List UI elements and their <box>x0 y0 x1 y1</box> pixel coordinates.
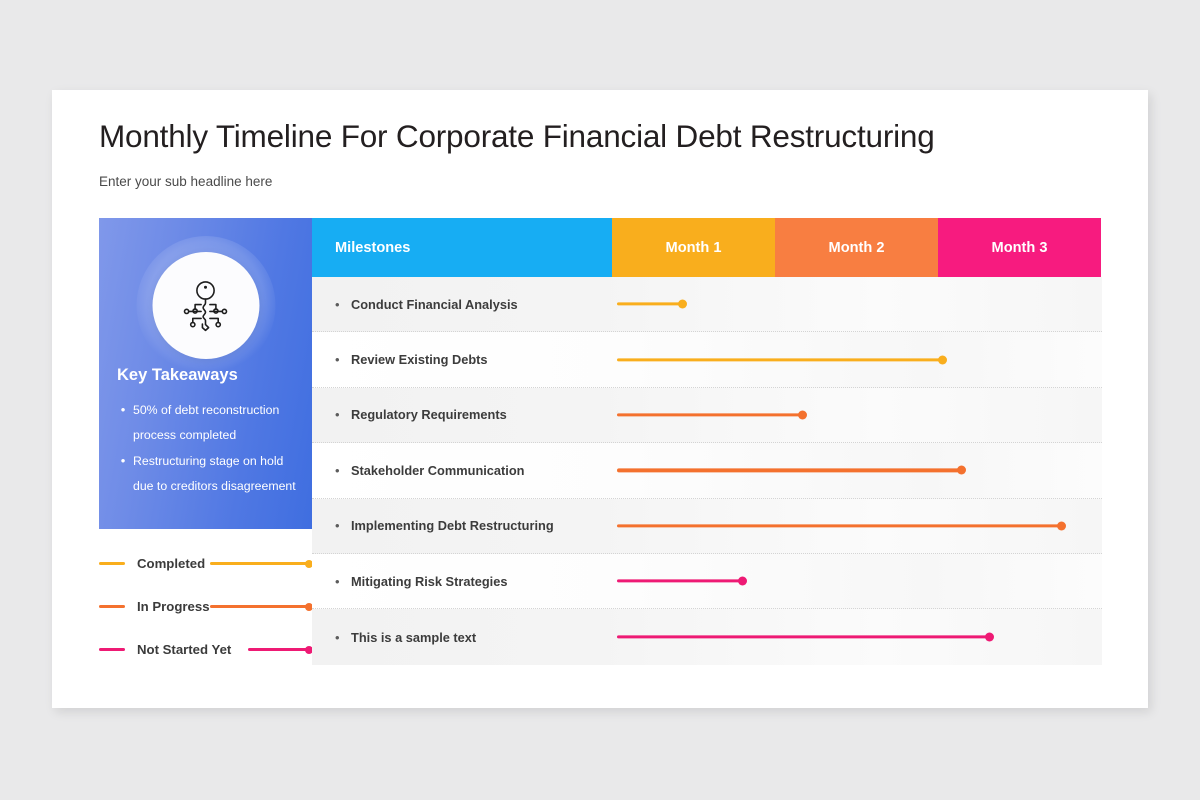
key-icon-halo <box>136 236 275 375</box>
gantt-end-dot-icon <box>1057 521 1066 530</box>
milestone-label: This is a sample text <box>351 630 476 645</box>
column-header-month1: Month 1 <box>612 218 775 277</box>
key-takeaways-panel: Key Takeaways • 50% of debt reconstructi… <box>99 218 312 529</box>
table-row[interactable]: • Mitigating Risk Strategies <box>312 554 1102 609</box>
table-row[interactable]: • Implementing Debt Restructuring <box>312 499 1102 554</box>
slide-card: Monthly Timeline For Corporate Financial… <box>52 90 1148 708</box>
legend-item-completed: Completed <box>99 542 312 585</box>
table-row[interactable]: • Conduct Financial Analysis <box>312 277 1102 332</box>
gantt-end-dot-icon <box>985 633 994 642</box>
gantt-end-dot-icon <box>938 355 947 364</box>
page-subtitle: Enter your sub headline here <box>99 174 272 189</box>
legend-line-icon <box>210 605 310 608</box>
bullet-icon: • <box>335 408 351 421</box>
milestone-label: Regulatory Requirements <box>351 407 507 422</box>
gantt-bar <box>617 635 989 638</box>
column-header-month2: Month 2 <box>775 218 938 277</box>
key-takeaway-text: 50% of debt reconstruction process compl… <box>133 398 307 447</box>
table-row[interactable]: • Regulatory Requirements <box>312 388 1102 443</box>
bullet-icon: • <box>335 464 351 477</box>
column-header-month3: Month 3 <box>938 218 1101 277</box>
legend: Completed In Progress Not Started Yet <box>99 542 312 671</box>
page-title: Monthly Timeline For Corporate Financial… <box>99 118 935 155</box>
milestone-label: Implementing Debt Restructuring <box>351 518 554 533</box>
circuit-key-icon <box>152 252 259 359</box>
legend-dash-icon <box>99 562 125 565</box>
legend-line-icon <box>248 648 310 651</box>
table-header-row: Milestones Month 1 Month 2 Month 3 <box>312 218 1102 277</box>
table-row[interactable]: • Stakeholder Communication <box>312 443 1102 498</box>
key-takeaway-text: Restructuring stage on hold due to credi… <box>133 449 307 498</box>
legend-item-not-started: Not Started Yet <box>99 628 312 671</box>
legend-label: In Progress <box>137 599 210 614</box>
milestone-label: Mitigating Risk Strategies <box>351 574 507 589</box>
gantt-bar <box>617 580 742 583</box>
milestone-cell: • This is a sample text <box>312 630 612 645</box>
gantt-end-dot-icon <box>798 410 807 419</box>
column-header-milestones: Milestones <box>312 218 612 277</box>
table-body: • Conduct Financial Analysis • Review Ex… <box>312 277 1102 665</box>
bullet-icon: • <box>335 631 351 644</box>
milestone-label: Conduct Financial Analysis <box>351 297 518 312</box>
gantt-bar <box>617 413 802 416</box>
legend-item-in-progress: In Progress <box>99 585 312 628</box>
timeline-table: Milestones Month 1 Month 2 Month 3 • Con… <box>312 218 1102 665</box>
list-item: • Restructuring stage on hold due to cre… <box>113 449 307 498</box>
key-takeaways-list: • 50% of debt reconstruction process com… <box>113 398 307 500</box>
bullet-icon: • <box>113 398 133 447</box>
table-row[interactable]: • This is a sample text <box>312 609 1102 664</box>
legend-label: Completed <box>137 556 205 571</box>
legend-dash-icon <box>99 648 125 651</box>
milestone-label: Review Existing Debts <box>351 352 488 367</box>
bullet-icon: • <box>335 519 351 532</box>
bullet-icon: • <box>335 298 351 311</box>
gantt-end-dot-icon <box>957 466 966 475</box>
bullet-icon: • <box>335 575 351 588</box>
gantt-end-dot-icon <box>738 577 747 586</box>
milestone-cell: • Mitigating Risk Strategies <box>312 574 612 589</box>
milestone-label: Stakeholder Communication <box>351 463 525 478</box>
legend-label: Not Started Yet <box>137 642 231 657</box>
gantt-end-dot-icon <box>678 300 687 309</box>
milestone-cell: • Conduct Financial Analysis <box>312 297 612 312</box>
table-row[interactable]: • Review Existing Debts <box>312 332 1102 387</box>
milestone-cell: • Stakeholder Communication <box>312 463 612 478</box>
gantt-bar <box>617 524 1061 527</box>
milestone-cell: • Review Existing Debts <box>312 352 612 367</box>
key-takeaways-heading: Key Takeaways <box>117 366 238 385</box>
list-item: • 50% of debt reconstruction process com… <box>113 398 307 447</box>
gantt-bar <box>617 358 942 361</box>
legend-line-icon <box>210 562 310 565</box>
bullet-icon: • <box>113 449 133 498</box>
bullet-icon: • <box>335 353 351 366</box>
gantt-bar <box>617 303 682 306</box>
milestone-cell: • Regulatory Requirements <box>312 407 612 422</box>
milestone-cell: • Implementing Debt Restructuring <box>312 518 612 533</box>
legend-dash-icon <box>99 605 125 608</box>
gantt-bar <box>617 469 961 472</box>
